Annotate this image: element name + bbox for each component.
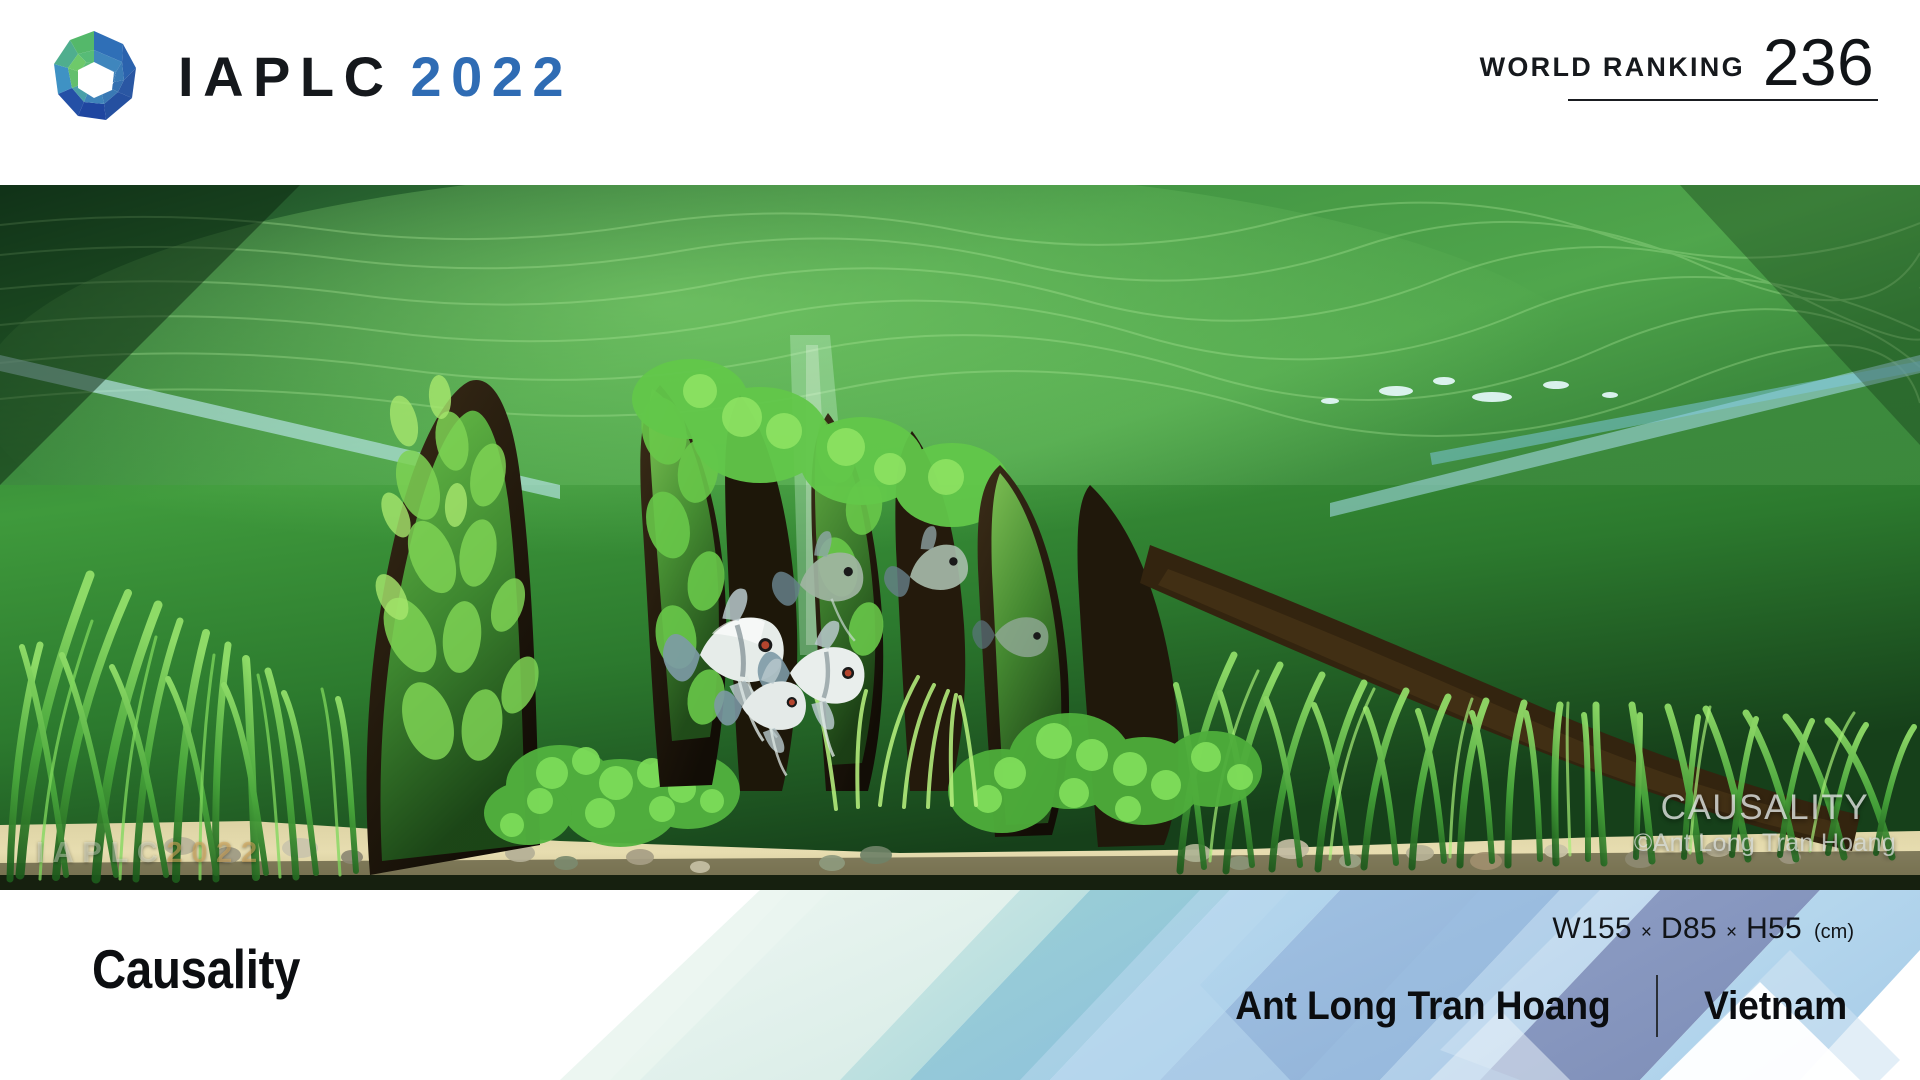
tank-depth: D85 <box>1661 912 1717 946</box>
logo-text-iaplc: IAPLC <box>178 44 394 109</box>
entry-title: Causality <box>92 937 300 1001</box>
world-ranking-row: WORLD RANKING 236 <box>1476 32 1878 99</box>
tank-dimension-unit: (cm) <box>1814 921 1854 944</box>
entrant-name: Ant Long Tran Hoang <box>1235 984 1610 1029</box>
entrant-country: Vietnam <box>1704 984 1847 1029</box>
world-ranking-label: WORLD RANKING <box>1480 52 1745 93</box>
credit-divider <box>1656 975 1658 1037</box>
dim-separator-2: × <box>1726 922 1737 944</box>
iaplc-entry-page: IAPLC 2022 WORLD RANKING 236 <box>0 0 1920 1080</box>
aquascape-photograph: IAPLC2022 CAUSALITY ©Ant Long Tran Hoang <box>0 185 1920 890</box>
tank-width: W155 <box>1552 912 1632 946</box>
tank-dimensions: W155 × D85 × H55 (cm) <box>1552 912 1854 946</box>
iaplc-wordmark: IAPLC 2022 <box>178 44 573 109</box>
world-ranking-value: 236 <box>1763 32 1874 93</box>
tank-height: H55 <box>1746 912 1802 946</box>
iaplc-hexagon-logo-icon <box>48 28 140 124</box>
entry-credit: Ant Long Tran Hoang Vietnam <box>1207 975 1858 1037</box>
dim-separator-1: × <box>1641 922 1652 944</box>
logo-text-year: 2022 <box>410 44 573 109</box>
world-ranking-block: WORLD RANKING 236 <box>1476 32 1878 101</box>
world-ranking-underline <box>1568 99 1878 101</box>
page-footer: Causality W155 × D85 × H55 (cm) Ant Long… <box>0 890 1920 1080</box>
iaplc-logo-group: IAPLC 2022 <box>48 28 573 124</box>
page-header: IAPLC 2022 WORLD RANKING 236 <box>0 0 1920 185</box>
